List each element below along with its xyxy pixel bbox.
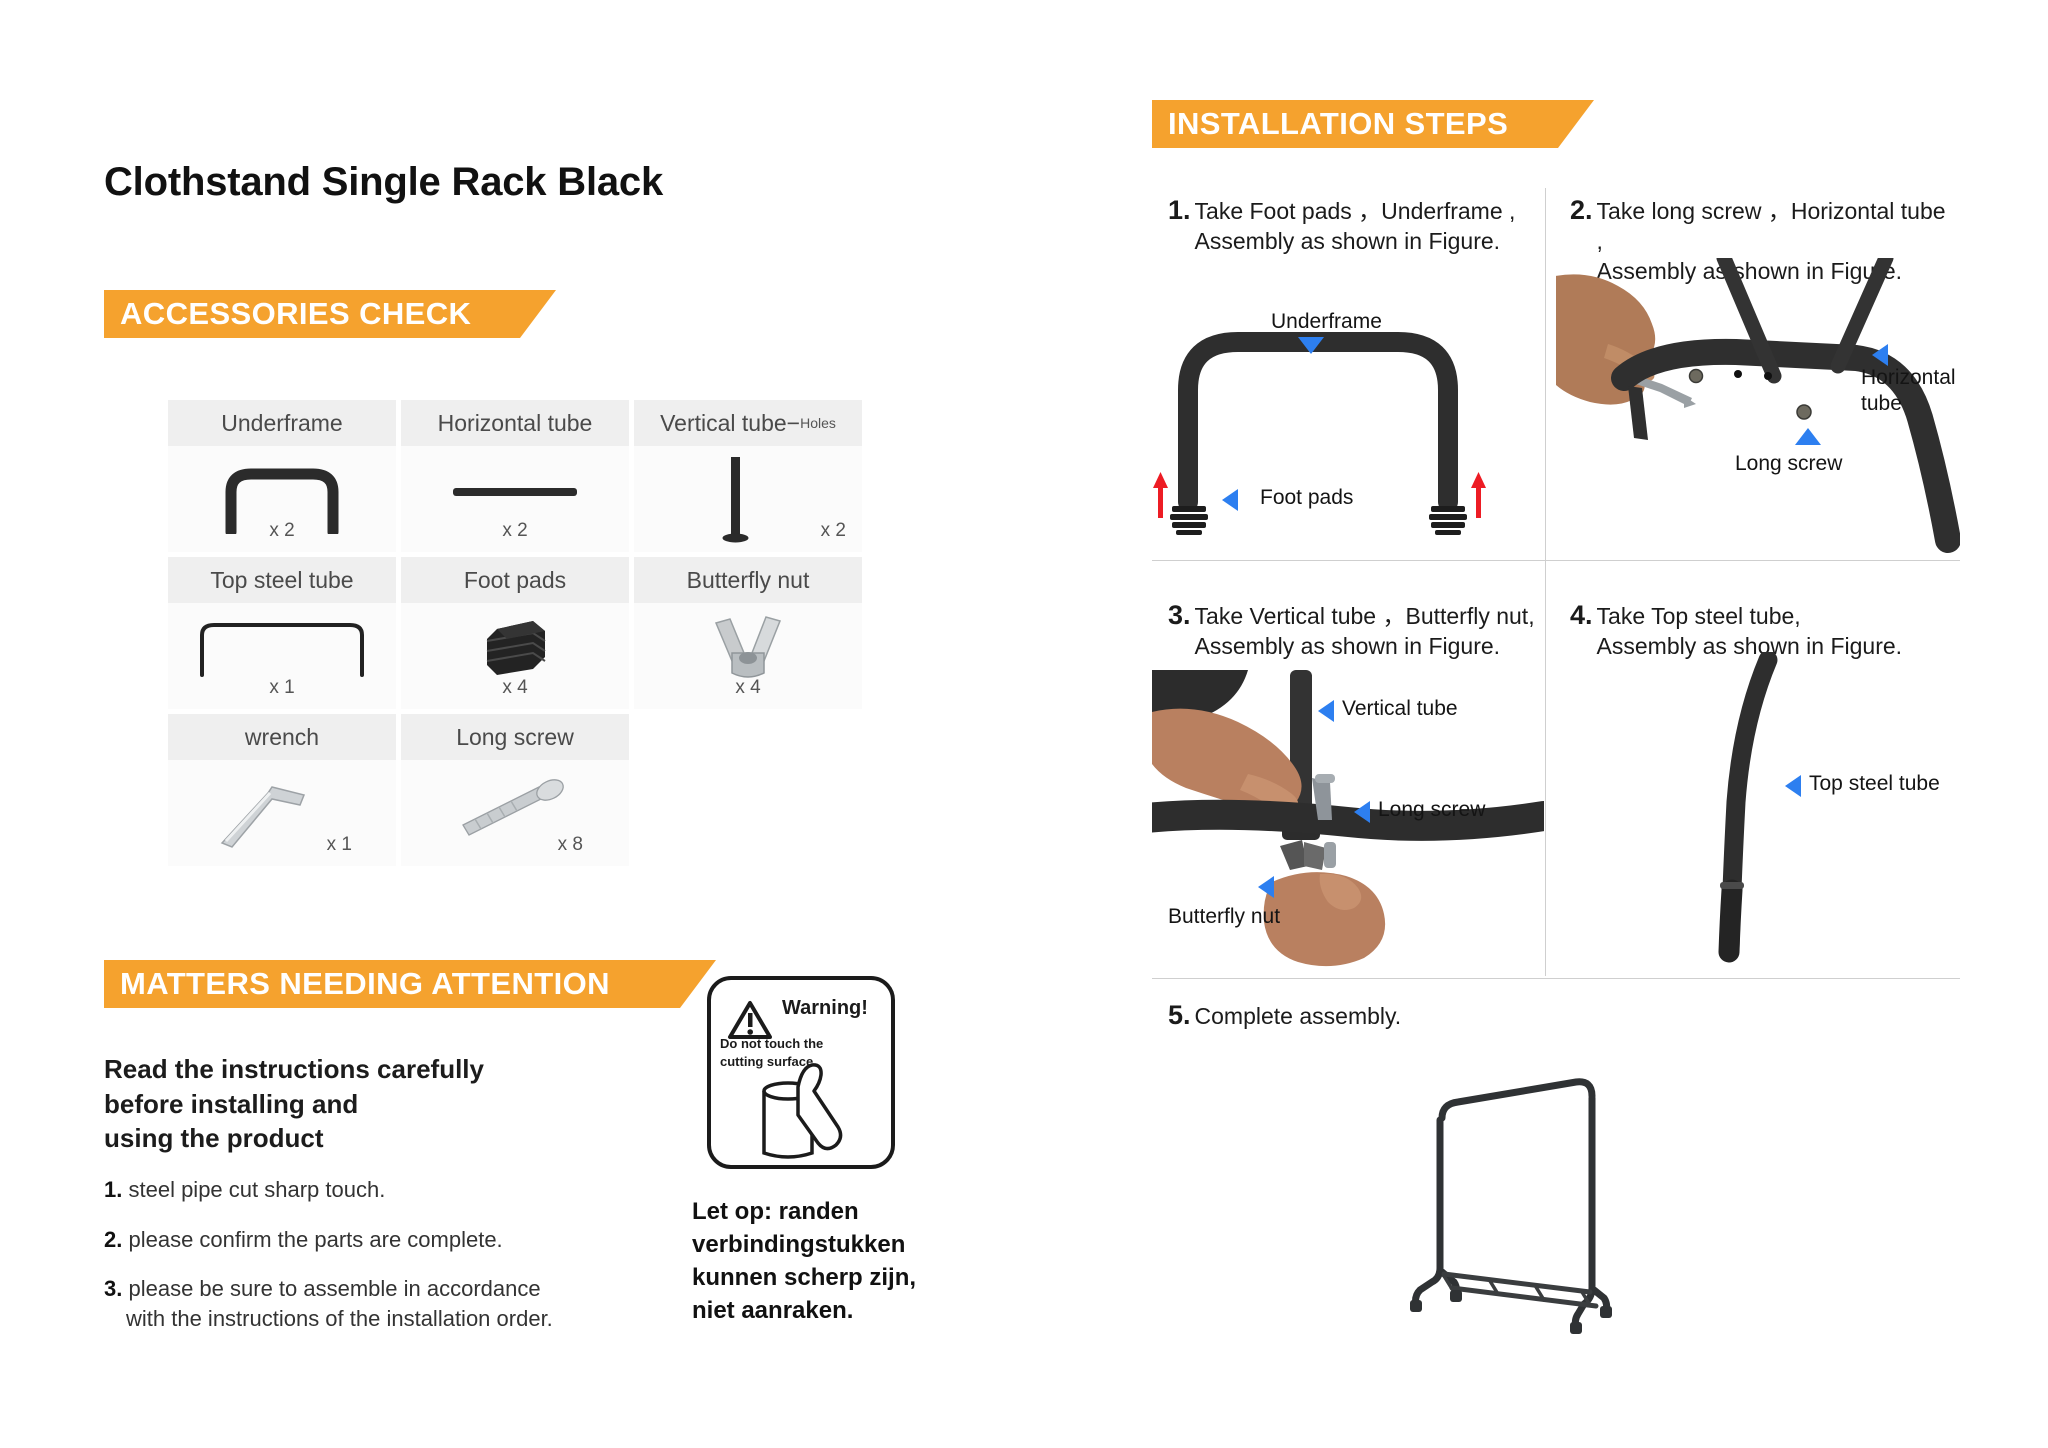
accessory-qty: x 2 [269,520,294,542]
left-arrow-icon [1872,344,1888,366]
accessory-label: Top steel tube [168,557,396,603]
step-3-callout-butterfly-nut: Butterfly nut [1168,905,1280,930]
step-4-figure [1680,652,1900,972]
step-4-line-1: Take Top steel tube, [1597,603,1801,629]
up-arrow-icon [1795,428,1821,445]
step-2-callout-long-screw: Long screw [1735,452,1842,477]
attention-item-text-continued: with the instructions of the installatio… [104,1304,644,1334]
attention-item-text: please confirm the parts are complete. [128,1227,502,1252]
installation-steps-banner: INSTALLATION STEPS [1152,100,1558,148]
step-5-text: Complete assembly. [1195,1000,1402,1032]
accessory-label: Long screw [401,714,629,760]
steps-horizontal-divider [1152,978,1960,979]
accessory-name: Butterfly nut [687,567,810,594]
steps-vertical-divider [1545,188,1546,976]
step-2-number: 2. [1570,195,1593,226]
step-4-callout-top-steel-tube: Top steel tube [1809,772,1940,797]
attention-list-item: 1. steel pipe cut sharp touch. [104,1175,644,1205]
accessory-qty: x 1 [269,677,294,699]
left-arrow-icon [1258,876,1274,898]
step-1-callout-underframe: Underframe [1271,310,1382,335]
instruction-sheet: Clothstand Single Rack Black ACCESSORIES… [0,0,2048,1448]
warning-title: Warning! [782,997,868,1020]
step-1-line-1: Take Foot pads ，Underframe , [1195,198,1516,224]
attention-lead-text: Read the instructions carefully before i… [104,1052,624,1156]
accessory-image-vertical-tube: x 2 [634,446,862,552]
accessory-name: Long screw [456,724,574,751]
butterfly-nut-icon [702,613,794,687]
step-2-line-1: Take long screw ，Horizontal tube , [1597,198,1946,254]
attention-list-item: 3. please be sure to assemble in accorda… [104,1274,644,1333]
accessory-name-sub: Holes [800,415,836,431]
accessories-grid: Underframe x 2 Horizontal tube x 2 [168,400,868,866]
attention-item-number: 3. [104,1276,122,1301]
accessory-cell-vertical-tube: Vertical tube−Holes x 2 [634,400,862,552]
left-arrow-icon [1785,775,1801,797]
step-5-heading: 5. Complete assembly. [1168,1000,1668,1032]
step-1-text: Take Foot pads ，Underframe , Assembly as… [1195,195,1516,257]
accessory-name: Underframe [221,410,342,437]
accessory-name: Vertical tube− [660,410,800,437]
warning-line-2: cutting surface. [720,1053,823,1071]
attention-lead-line-3: using the product [104,1121,624,1156]
step-3-callout-vertical-tube: Vertical tube [1342,697,1458,722]
accessory-image-foot-pads: x 4 [401,603,629,709]
attention-lead-line-1: Read the instructions carefully [104,1052,624,1087]
accessory-qty: x 2 [821,520,846,542]
accessories-check-heading: ACCESSORIES CHECK [120,296,471,332]
attention-list-item: 2. please confirm the parts are complete… [104,1225,644,1255]
accessory-name: Foot pads [464,567,566,594]
attention-item-number: 2. [104,1227,122,1252]
foot-pad-icon [477,611,553,687]
accessory-cell-wrench: wrench x 1 [168,714,396,866]
horizontal-tube-icon [449,472,581,512]
page-title: Clothstand Single Rack Black [104,160,663,205]
step-1-callout-foot-pads: Foot pads [1260,486,1353,511]
step-1-line-2: Assembly as shown in Figure. [1195,228,1501,254]
accessories-check-banner: ACCESSORIES CHECK [104,290,520,338]
warning-line-1: Do not touch the [720,1035,823,1053]
accessory-label: Horizontal tube [401,400,629,446]
step-2-callout-horizontal-tube-line2: tube [1861,392,1902,417]
accessory-qty: x 8 [558,834,583,856]
accessory-label: wrench [168,714,396,760]
left-arrow-icon [1318,700,1334,722]
accessory-image-long-screw: x 8 [401,760,629,866]
accessory-image-underframe: x 2 [168,446,396,552]
accessory-cell-butterfly-nut: Butterfly nut x 4 [634,557,862,709]
dutch-caption-line-1: Let op: randen [692,1196,992,1229]
accessory-qty: x 4 [502,677,527,699]
step-3-text: Take Vertical tube ，Butterfly nut, Assem… [1195,600,1535,662]
left-arrow-icon [1354,801,1370,823]
top-steel-tube-icon [196,617,368,679]
step-1: 1. Take Foot pads ，Underframe , Assembly… [1168,195,1538,257]
step-5-number: 5. [1168,1000,1191,1031]
banner-tail-icon [1558,100,1594,148]
accessory-name: Top steel tube [210,567,353,594]
step-1-heading: 1. Take Foot pads ，Underframe , Assembly… [1168,195,1538,257]
accessory-image-horizontal-tube: x 2 [401,446,629,552]
down-arrow-icon [1298,337,1324,354]
attention-list: 1. steel pipe cut sharp touch. 2. please… [104,1175,644,1354]
accessory-label: Underframe [168,400,396,446]
step-5-figure [1380,1040,1720,1350]
accessory-cell-horizontal-tube: Horizontal tube x 2 [401,400,629,552]
accessory-qty: x 2 [502,520,527,542]
step-3-number: 3. [1168,600,1191,631]
step-3-line-2: Assembly as shown in Figure. [1195,633,1501,659]
installation-steps-heading: INSTALLATION STEPS [1168,106,1508,142]
step-3-heading: 3. Take Vertical tube ，Butterfly nut, As… [1168,600,1538,662]
steps-horizontal-divider [1152,560,1960,561]
accessory-qty: x 1 [327,834,352,856]
dutch-caption-line-2: verbindingstukken [692,1229,992,1262]
attention-lead-line-2: before installing and [104,1087,624,1122]
accessory-cell-foot-pads: Foot pads x 4 [401,557,629,709]
attention-item-text: please be sure to assemble in accordance [128,1276,540,1301]
step-3-line-1: Take Vertical tube ，Butterfly nut, [1195,603,1535,629]
matters-needing-attention-heading: MATTERS NEEDING ATTENTION [120,966,610,1002]
matters-needing-attention-banner: MATTERS NEEDING ATTENTION [104,960,680,1008]
vertical-tube-icon [706,453,766,545]
dutch-caption-line-3: kunnen scherp zijn, [692,1262,992,1295]
banner-tail-icon [520,290,556,338]
accessory-label: Vertical tube−Holes [634,400,862,446]
accessory-image-butterfly-nut: x 4 [634,603,862,709]
dutch-caption-line-4: niet aanraken. [692,1295,992,1328]
attention-item-number: 1. [104,1177,122,1202]
step-1-number: 1. [1168,195,1191,226]
left-arrow-icon [1222,489,1238,511]
accessory-image-wrench: x 1 [168,760,396,866]
accessory-cell-long-screw: Long screw x 8 [401,714,629,866]
accessory-cell-top-steel-tube: Top steel tube x 1 [168,557,396,709]
accessory-cell-underframe: Underframe x 2 [168,400,396,552]
step-4-top-steel-tube-diagram [1680,652,1900,972]
long-screw-icon [455,773,575,839]
wrench-icon [212,773,322,849]
accessory-name: wrench [245,724,319,751]
attention-item-text: steel pipe cut sharp touch. [128,1177,385,1202]
dutch-warning-caption: Let op: randen verbindingstukken kunnen … [692,1196,992,1328]
step-2-callout-horizontal-tube-line1: Horizontal [1861,366,1956,391]
accessory-image-top-steel-tube: x 1 [168,603,396,709]
accessory-label: Foot pads [401,557,629,603]
step-3-callout-long-screw: Long screw [1378,798,1485,823]
complete-assembly-diagram [1380,1040,1720,1350]
step-4-number: 4. [1570,600,1593,631]
accessory-name: Horizontal tube [438,410,593,437]
step-3: 3. Take Vertical tube ，Butterfly nut, As… [1168,600,1538,662]
accessory-qty: x 4 [735,677,760,699]
warning-label: Warning! Do not touch the cutting surfac… [706,975,896,1170]
accessory-label: Butterfly nut [634,557,862,603]
step-5: 5. Complete assembly. [1168,1000,1668,1032]
